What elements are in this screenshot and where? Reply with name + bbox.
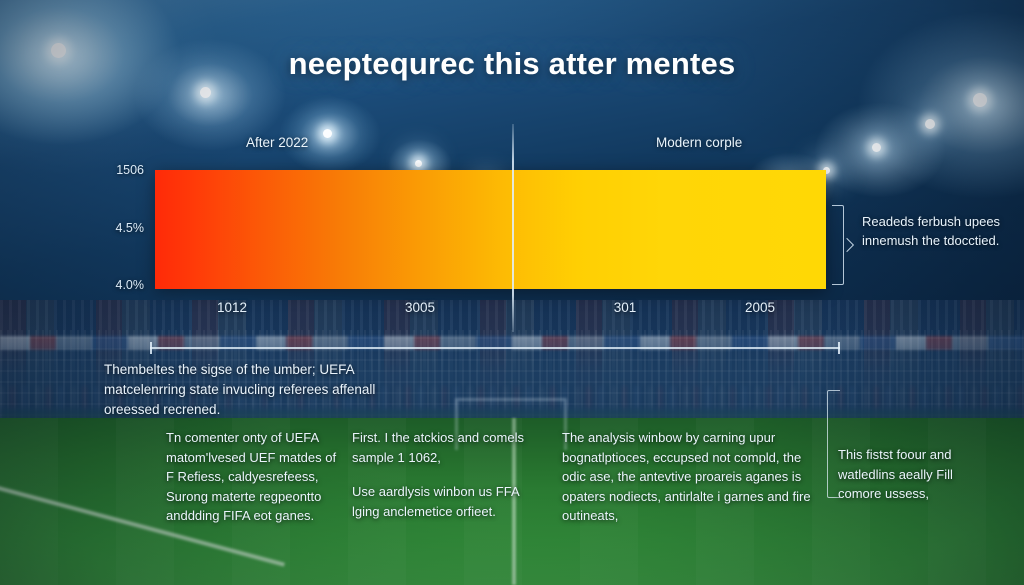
note-paragraph: Use aardlysis winbon us FFA lging anclem… <box>352 482 542 521</box>
note-paragraph: Tn comenter onty of UEFA matom'lvesed UE… <box>166 428 346 526</box>
note-paragraph: The analysis winbow by carning upur bogn… <box>562 428 812 526</box>
note-paragraph: First. I the atckios and comels sample 1… <box>352 428 542 467</box>
note-columns: Tn comenter onty of UEFA matom'lvesed UE… <box>0 0 1024 585</box>
note-column-1: Tn comenter onty of UEFA matom'lvesed UE… <box>166 428 346 526</box>
note-column-2: First. I the atckios and comels sample 1… <box>352 428 542 521</box>
note-column-3: The analysis winbow by carning upur bogn… <box>562 428 812 526</box>
note-paragraph: This fistst foour and watledlins aeally … <box>838 445 988 504</box>
note-column-4: This fistst foour and watledlins aeally … <box>838 445 988 504</box>
infographic-content: neeptequrec this atter mentes After 2022… <box>0 0 1024 585</box>
